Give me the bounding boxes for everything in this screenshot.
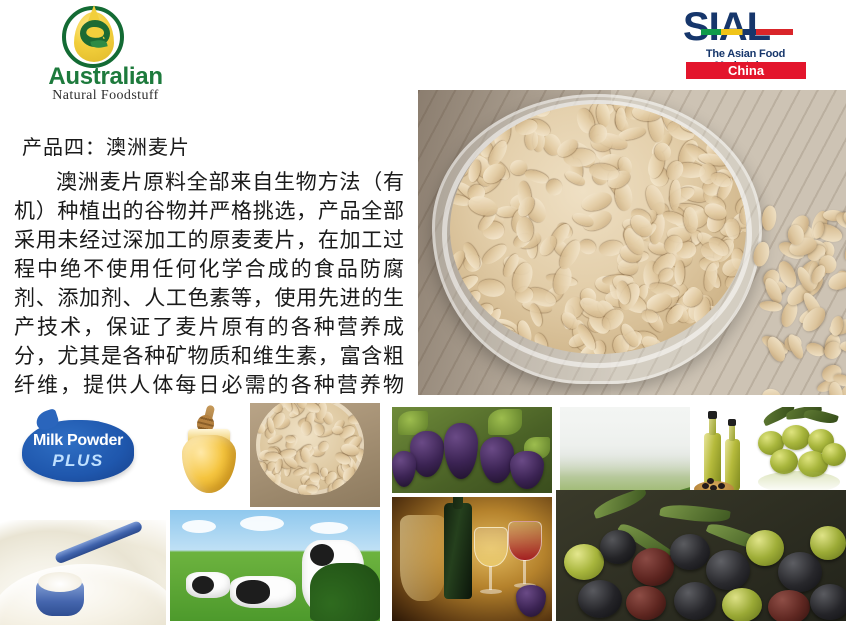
glass-stem (523, 560, 526, 584)
oats-bowl-photo (418, 90, 846, 395)
olive-oil-bottles-photo (692, 407, 752, 503)
olive (722, 588, 762, 621)
sial-wordmark: SIAL (683, 8, 808, 46)
white-wine-glass (474, 527, 508, 599)
scattered-oat-flake (821, 338, 845, 362)
vine-leaf-icon (488, 409, 522, 435)
olive (670, 534, 710, 570)
oat-flake (530, 104, 553, 119)
brand-wordmark: Australian (18, 64, 193, 90)
mist-haze (560, 407, 690, 477)
bottle-cap (728, 419, 736, 426)
brand-tagline: Natural Foodstuff (18, 88, 193, 104)
milk-powder-mound (0, 520, 166, 625)
small-oat-bowl (256, 403, 364, 495)
green-olive (822, 443, 846, 466)
grass-bush (310, 563, 380, 621)
oats-bowl-small-photo (250, 403, 380, 507)
olive (674, 582, 716, 620)
grape-cluster (510, 451, 544, 489)
olive (768, 590, 810, 621)
page-title: 产品四：澳洲麦片 (22, 131, 190, 160)
olive (778, 552, 822, 592)
scoop-powder (38, 572, 82, 592)
cow-spot (192, 576, 214, 594)
black-olive (702, 483, 709, 489)
oat-flake (353, 415, 364, 427)
scoop-handle (54, 520, 143, 565)
wine-bottle (444, 503, 472, 599)
grape-cluster (444, 423, 478, 479)
oat-flake (257, 484, 269, 495)
oat-flake (346, 478, 363, 493)
scattered-oat-flake (798, 303, 829, 335)
olive (578, 580, 622, 618)
grapes-vine-photo (392, 407, 552, 493)
olive (600, 530, 636, 564)
mixed-olives-photo (556, 490, 846, 621)
olive (564, 544, 604, 580)
green-olive (782, 425, 810, 450)
oat-flake (674, 261, 684, 286)
olive-leaf-icon (659, 501, 730, 526)
oat-flake (301, 421, 312, 436)
scattered-oat-flake (804, 341, 826, 359)
honey-jar (182, 435, 236, 493)
green-olives-photo (752, 407, 846, 503)
oat-flakes-pile (450, 104, 746, 354)
scattered-oat-flake (842, 233, 846, 263)
bottle-neck (709, 417, 716, 435)
glass-bowl (508, 521, 542, 561)
glass-foot (480, 589, 502, 594)
bottle-neck (729, 425, 735, 441)
black-olive (707, 478, 714, 484)
olive (746, 530, 784, 566)
black-olive (718, 483, 725, 489)
sial-colorbar-icon (701, 29, 793, 35)
oat-flake (563, 168, 587, 187)
grape-cluster (516, 585, 546, 617)
milk-badge-line2: PLUS (22, 451, 134, 471)
bottle-cap (708, 411, 717, 419)
glass-bowl (432, 94, 762, 384)
grape-cluster (392, 451, 416, 487)
oat-flake (337, 403, 349, 407)
honey-jar-photo (170, 403, 248, 499)
cow-spot (236, 580, 270, 604)
wine-bottles-glasses-photo (392, 497, 552, 621)
scattered-oat-flake (751, 241, 771, 269)
glass-stem (489, 566, 492, 590)
cloud-icon (240, 516, 284, 531)
olive (810, 584, 846, 620)
milk-powder-plus-badge: Milk Powder PLUS (22, 420, 134, 482)
wine-decanter (400, 515, 446, 601)
scattered-oats (748, 210, 846, 395)
grape-cluster (480, 437, 514, 483)
olive (632, 548, 674, 586)
milk-badge-line1: Milk Powder (22, 432, 134, 450)
product-collage-strip: Milk Powder PLUS (0, 398, 846, 625)
olive-leaf-icon (591, 490, 648, 519)
oat-flake (353, 404, 364, 415)
glass-bowl (474, 527, 508, 567)
sial-china-logo: SIAL The Asian Food Marketplace China (683, 8, 808, 78)
oat-flake (332, 426, 343, 434)
milk-powder-photo: Milk Powder PLUS (0, 400, 166, 625)
sial-country-banner: China (686, 62, 806, 79)
droplet-australia-map-icon (58, 4, 132, 70)
olive (626, 586, 666, 620)
cloud-icon (182, 520, 216, 533)
presentation-slide: Australian Natural Foodstuff SIAL The As… (0, 0, 846, 625)
cloud-icon (310, 522, 348, 534)
scattered-oat-flake (760, 387, 782, 395)
australian-natural-foodstuff-logo: Australian Natural Foodstuff (18, 4, 193, 106)
cow-spot (310, 544, 334, 566)
olive (810, 526, 846, 560)
red-wine-glass (508, 521, 542, 593)
olive (706, 550, 750, 590)
dairy-cows-photo (170, 510, 380, 621)
oat-flake (477, 278, 506, 299)
